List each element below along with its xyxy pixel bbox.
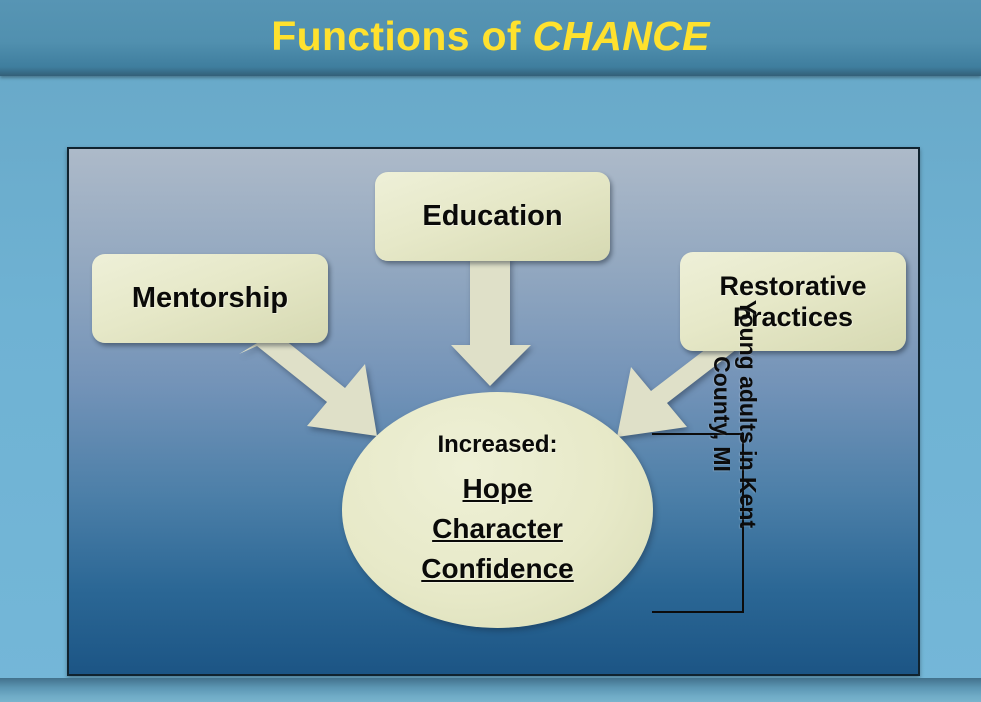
- node-label-education: Education: [422, 200, 562, 232]
- node-box-mentorship[interactable]: Mentorship: [92, 254, 328, 343]
- outcome-ellipse[interactable]: Increased: Hope Character Confidence: [342, 392, 653, 628]
- arrow-education-to-outcome: [452, 257, 532, 387]
- node-box-education[interactable]: Education: [375, 172, 610, 261]
- outcome-item-confidence: Confidence: [421, 553, 573, 585]
- title-emphasis: CHANCE: [533, 13, 710, 59]
- arrow-mentorship-to-outcome: [237, 332, 387, 442]
- title-band: Functions of CHANCE: [0, 0, 981, 76]
- node-label-mentorship: Mentorship: [132, 282, 288, 314]
- footer-band: [0, 678, 981, 702]
- population-caption-line-2: County, MI: [709, 279, 735, 549]
- diagram-panel: Mentorship Education RestorativePractice…: [67, 147, 920, 676]
- population-caption: Young adults in Kent County, MI: [700, 279, 760, 549]
- population-caption-line-1: Young adults in Kent: [734, 279, 760, 549]
- outcome-item-character: Character: [432, 513, 563, 545]
- outcome-lead: Increased:: [437, 431, 557, 459]
- outcome-item-hope: Hope: [463, 473, 533, 505]
- slide-canvas: Functions of CHANCE Mentorship Education…: [0, 0, 981, 702]
- title-prefix: Functions of: [271, 13, 532, 59]
- page-title: Functions of CHANCE: [0, 8, 981, 64]
